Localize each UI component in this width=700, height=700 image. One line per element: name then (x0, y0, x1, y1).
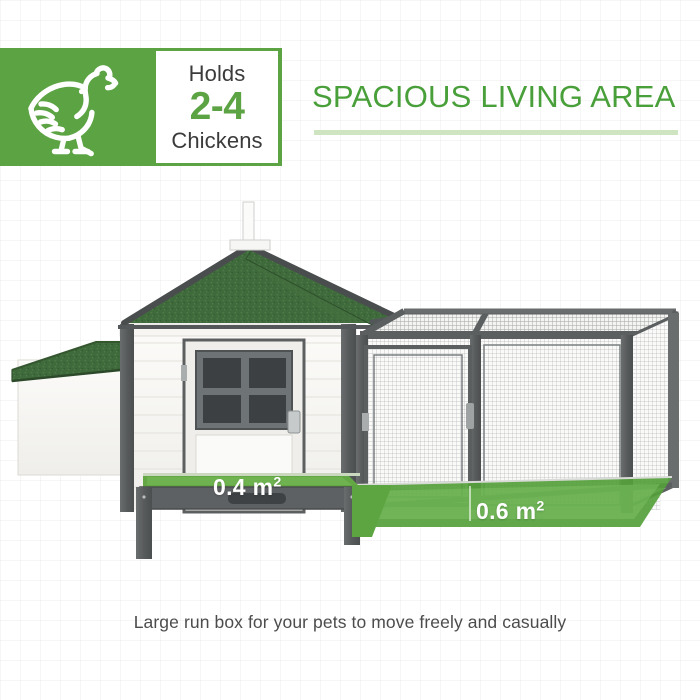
product-illustration (0, 185, 700, 575)
badge-count: 2-4 (190, 85, 245, 129)
chicken-icon (18, 56, 134, 158)
badge-bottom-label: Chickens (171, 129, 262, 152)
roof-finial (230, 202, 270, 250)
tray-handle (228, 493, 286, 504)
capacity-badge: Holds 2-4 Chickens (153, 48, 281, 166)
run-door-hinge (362, 413, 369, 431)
coop-roof (118, 202, 398, 327)
door-hinge (181, 365, 187, 381)
caption-text: Large run box for your pets to move free… (0, 612, 700, 633)
door-latch (288, 411, 300, 433)
marketing-image: Holds 2-4 Chickens SPACIOUS LIVING AREA (0, 0, 700, 700)
headline-divider (314, 130, 678, 135)
run-floor-area (352, 477, 672, 527)
page-title: SPACIOUS LIVING AREA (312, 79, 675, 115)
run-door (362, 347, 474, 505)
coop-floor-area (136, 473, 362, 559)
run-door-latch (466, 403, 474, 429)
badge-top-label: Holds (189, 62, 246, 85)
